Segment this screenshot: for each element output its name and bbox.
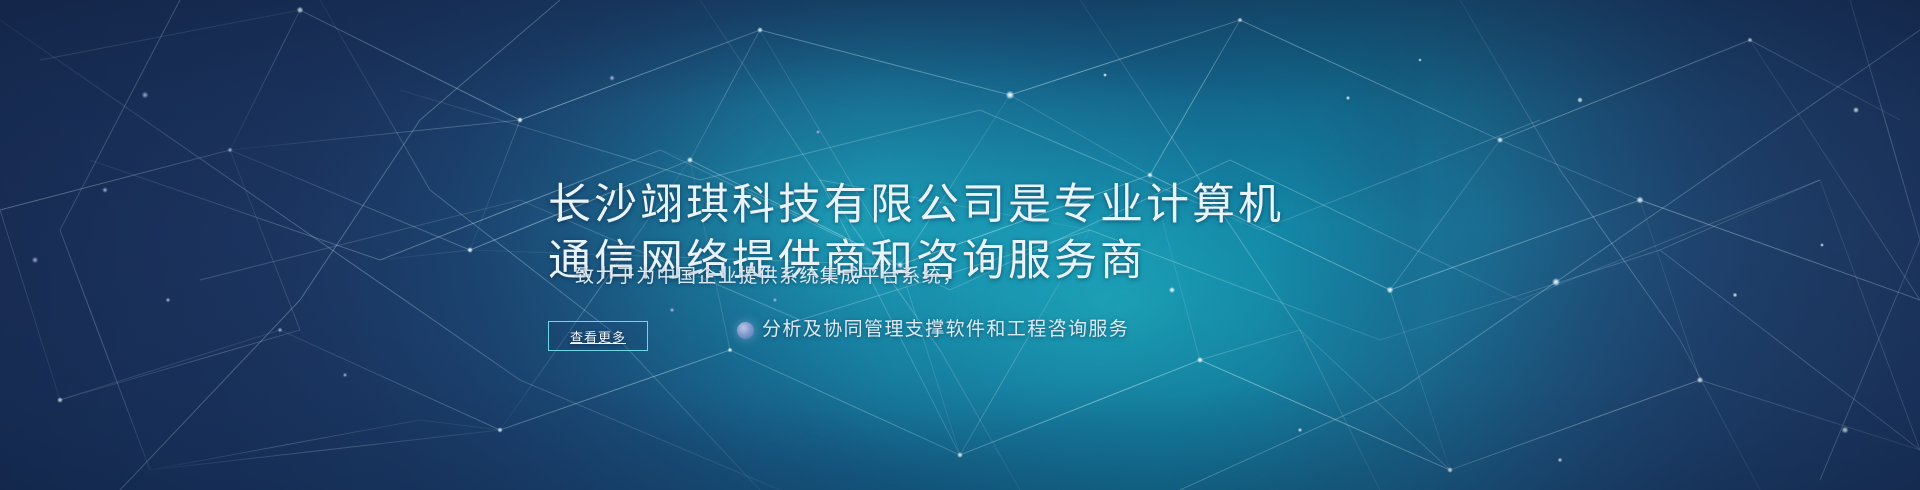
tagline-text: 分析及协同管理支撑软件和工程咨询服务: [762, 316, 1129, 344]
headline-line-1: 长沙翊琪科技有限公司是专业计算机: [548, 177, 1308, 233]
accent-dot-icon: [737, 322, 754, 339]
banner-content: 长沙翊琪科技有限公司是专业计算机 通信网络提供商和咨询服务商 致力于为中国企业提…: [0, 0, 1920, 490]
hero-banner: 长沙翊琪科技有限公司是专业计算机 通信网络提供商和咨询服务商 致力于为中国企业提…: [0, 0, 1920, 490]
subtitle-text: 致力于为中国企业提供系统集成平台系统，: [575, 263, 963, 291]
view-more-button[interactable]: 查看更多: [548, 321, 648, 351]
